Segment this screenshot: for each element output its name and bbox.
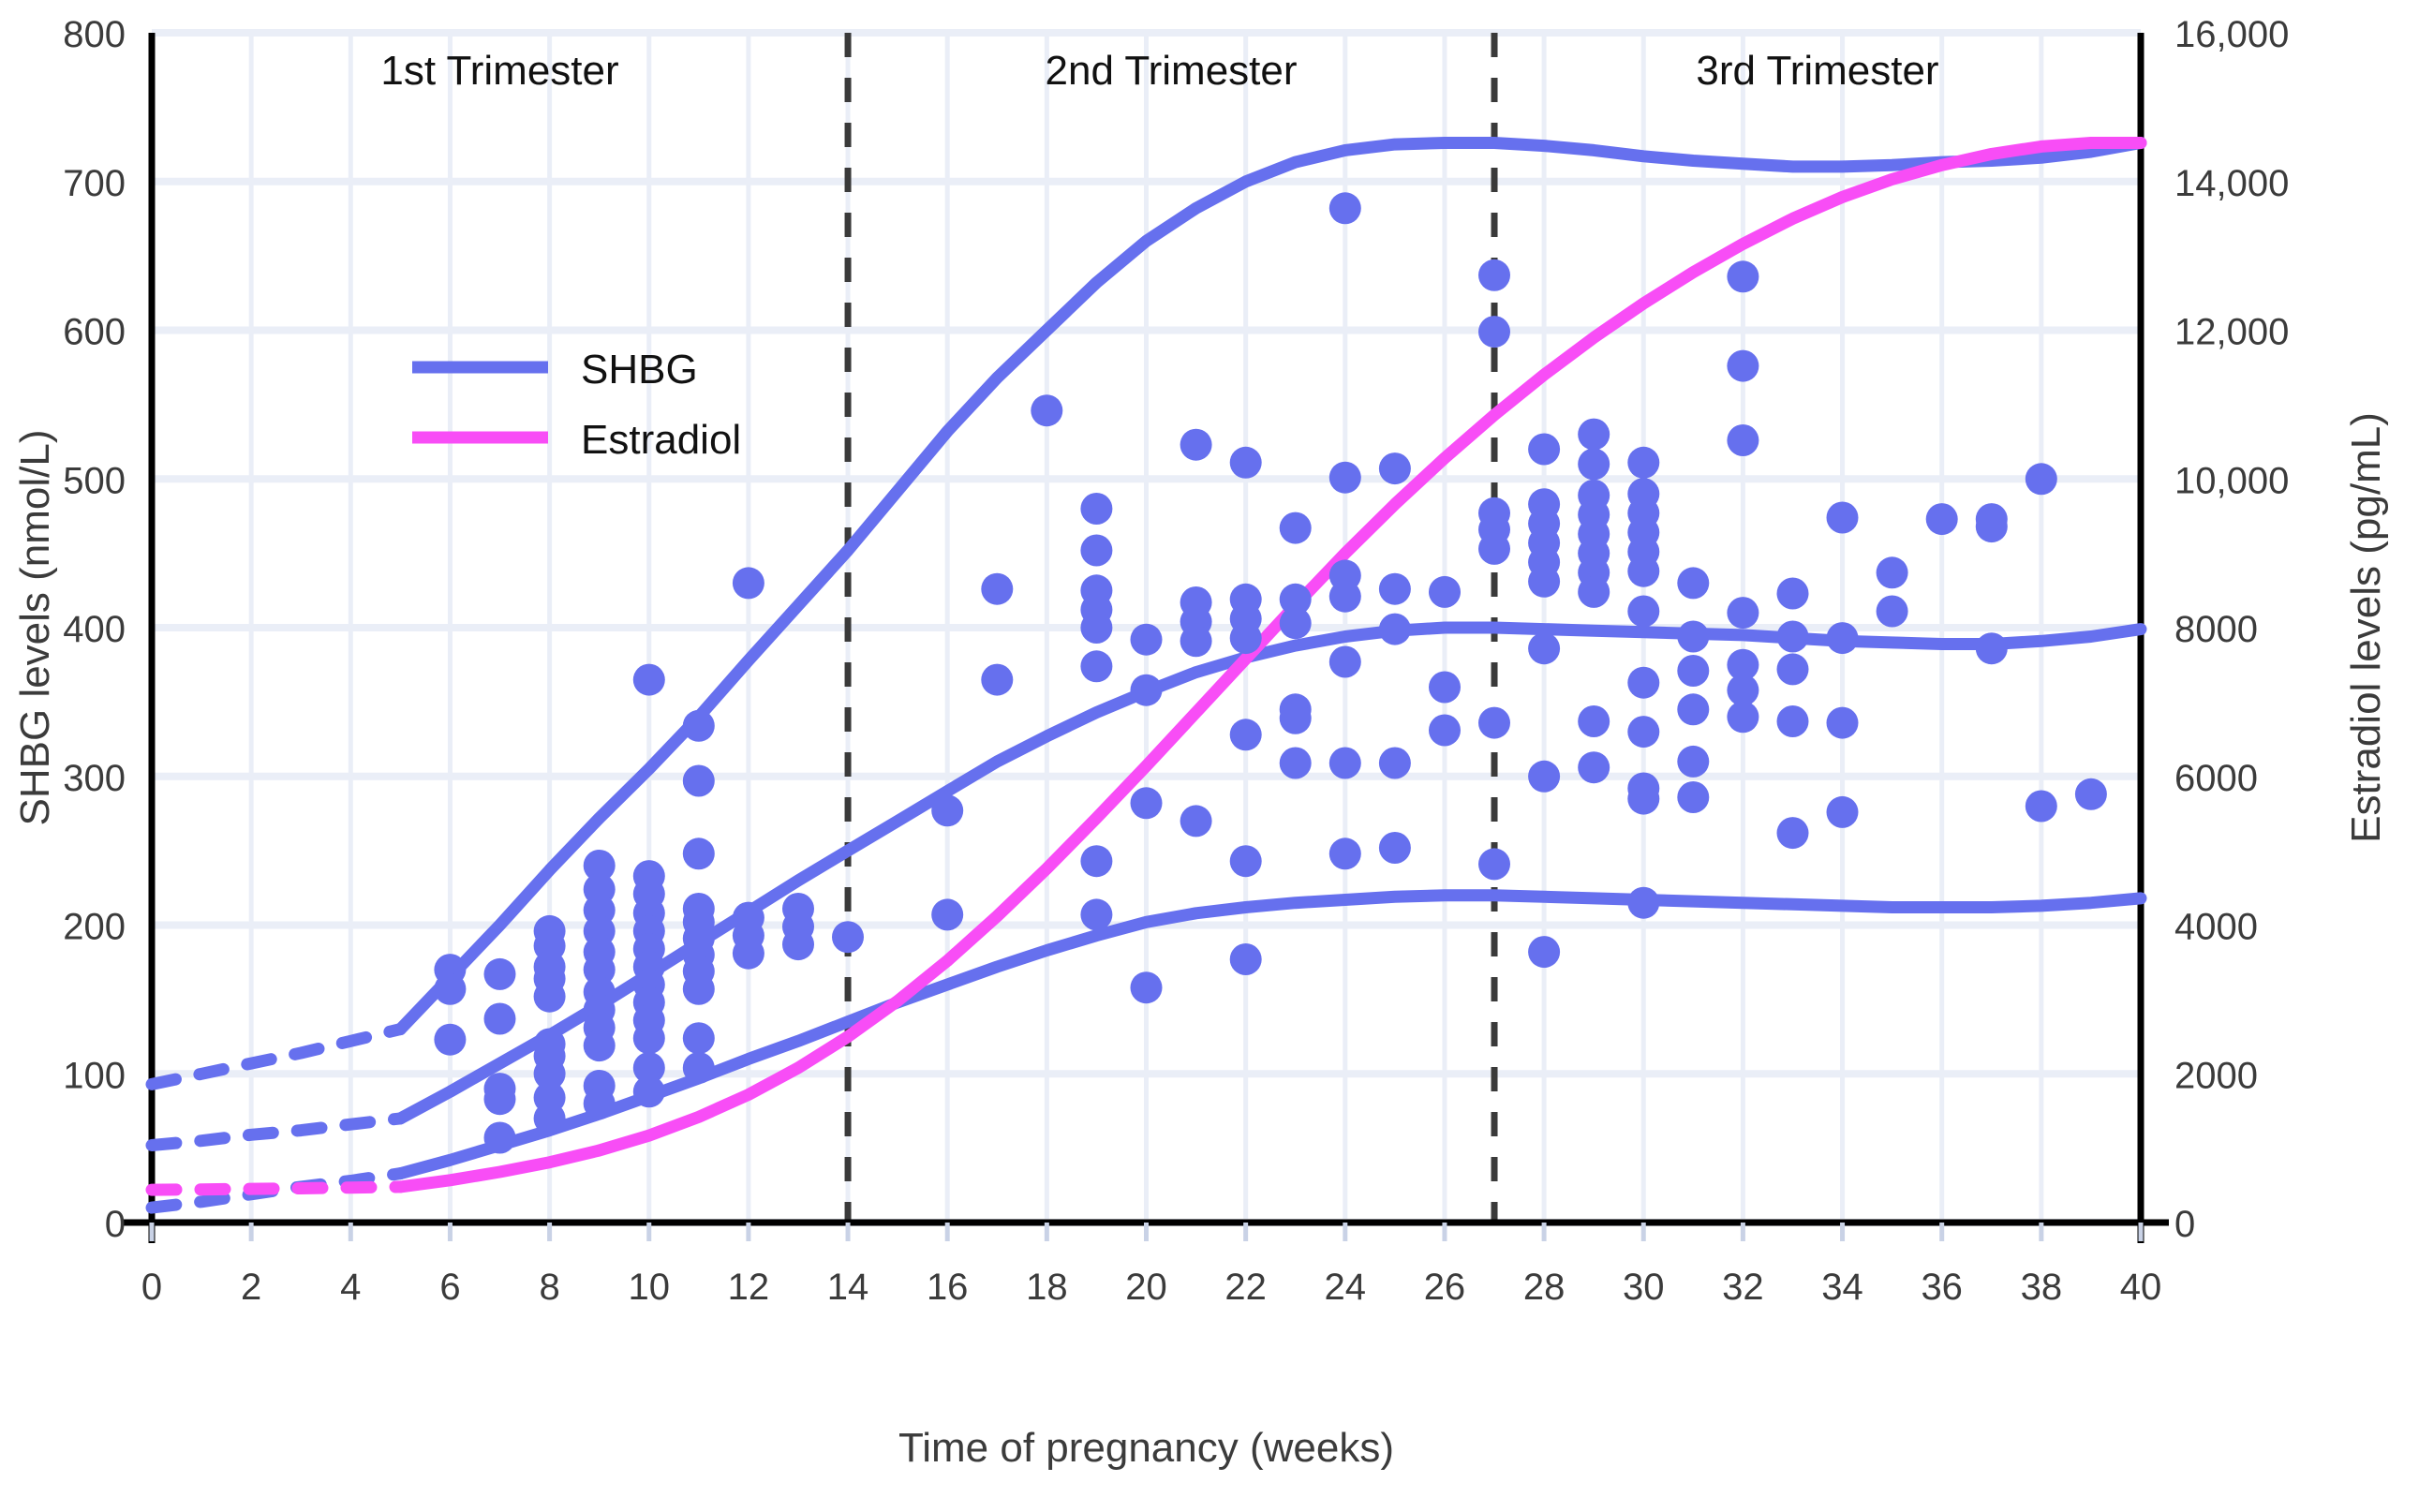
scatter-point bbox=[1877, 596, 1908, 628]
scatter-point bbox=[1777, 817, 1809, 849]
scatter-point bbox=[782, 928, 814, 960]
scatter-point bbox=[1379, 832, 1411, 864]
scatter-point bbox=[434, 1024, 466, 1056]
scatter-point bbox=[1578, 705, 1610, 737]
scatter-point bbox=[1329, 462, 1361, 494]
scatter-point bbox=[1131, 674, 1163, 706]
x-tick-label: 22 bbox=[1224, 1267, 1267, 1308]
scatter-point bbox=[1627, 887, 1659, 919]
x-tick-label: 28 bbox=[1523, 1267, 1566, 1308]
x-tick-label: 24 bbox=[1325, 1267, 1367, 1308]
x-tick-label: 8 bbox=[539, 1267, 559, 1308]
scatter-point bbox=[1180, 625, 1212, 657]
x-tick-label: 30 bbox=[1623, 1267, 1665, 1308]
scatter-point bbox=[1777, 653, 1809, 685]
y2-tick-label: 14,000 bbox=[2174, 163, 2289, 204]
y-tick-label: 800 bbox=[63, 14, 126, 55]
x-tick-label: 36 bbox=[1921, 1267, 1963, 1308]
scatter-point bbox=[1080, 898, 1112, 930]
y-tick-label: 600 bbox=[63, 312, 126, 353]
scatter-point bbox=[1230, 622, 1262, 654]
trimester-label: 2nd Trimester bbox=[1046, 48, 1298, 94]
scatter-point bbox=[1329, 646, 1361, 678]
scatter-point bbox=[1478, 707, 1510, 739]
x-tick-label: 6 bbox=[439, 1267, 460, 1308]
scatter-point bbox=[1131, 624, 1163, 656]
x-tick-label: 0 bbox=[141, 1267, 162, 1308]
legend-label[interactable]: Estradiol bbox=[581, 417, 741, 463]
scatter-chart: 0100200300400500600700800020004000600080… bbox=[0, 0, 2419, 1512]
scatter-point bbox=[1031, 394, 1062, 426]
y2-tick-label: 16,000 bbox=[2174, 14, 2289, 55]
scatter-point bbox=[1528, 566, 1560, 598]
scatter-point bbox=[2075, 778, 2107, 810]
trimester-label: 1st Trimester bbox=[380, 48, 618, 94]
scatter-point bbox=[1677, 781, 1709, 813]
scatter-point bbox=[484, 1083, 516, 1115]
scatter-point bbox=[1677, 693, 1709, 725]
scatter-point bbox=[434, 973, 466, 1005]
scatter-point bbox=[1478, 848, 1510, 880]
scatter-point bbox=[1429, 715, 1461, 747]
scatter-point bbox=[1379, 614, 1411, 645]
scatter-point bbox=[1478, 533, 1510, 565]
scatter-point bbox=[1230, 943, 1262, 975]
scatter-point bbox=[484, 958, 516, 990]
x-tick-label: 10 bbox=[629, 1267, 671, 1308]
scatter-point bbox=[981, 573, 1013, 605]
x-tick-label: 32 bbox=[1722, 1267, 1764, 1308]
scatter-point bbox=[1627, 667, 1659, 699]
scatter-point bbox=[1727, 350, 1759, 382]
scatter-point bbox=[733, 938, 764, 970]
scatter-point bbox=[1080, 535, 1112, 567]
scatter-point bbox=[1677, 655, 1709, 687]
scatter-point bbox=[633, 664, 665, 696]
scatter-point bbox=[1131, 787, 1163, 819]
x-tick-label: 20 bbox=[1125, 1267, 1167, 1308]
scatter-point bbox=[1627, 783, 1659, 815]
scatter-point bbox=[534, 981, 566, 1013]
x-tick-label: 16 bbox=[927, 1267, 969, 1308]
x-tick-label: 14 bbox=[827, 1267, 869, 1308]
y-tick-label: 100 bbox=[63, 1055, 126, 1096]
y2-tick-label: 12,000 bbox=[2174, 312, 2289, 353]
scatter-point bbox=[683, 765, 715, 797]
scatter-point bbox=[1131, 971, 1163, 1003]
scatter-point bbox=[1777, 578, 1809, 610]
scatter-point bbox=[1230, 719, 1262, 750]
scatter-point bbox=[1528, 936, 1560, 968]
scatter-point bbox=[1578, 576, 1610, 608]
scatter-point bbox=[1827, 707, 1859, 739]
tick-marks bbox=[152, 1223, 2141, 1241]
scatter-point bbox=[1976, 632, 2008, 664]
x-tick-label: 26 bbox=[1424, 1267, 1466, 1308]
y2-tick-label: 6000 bbox=[2174, 758, 2258, 799]
scatter-point bbox=[1429, 576, 1461, 608]
y2-tick-label: 2000 bbox=[2174, 1055, 2258, 1096]
scatter-point bbox=[1478, 259, 1510, 291]
scatter-point bbox=[1230, 447, 1262, 479]
scatter-point bbox=[683, 710, 715, 742]
scatter-point bbox=[1827, 622, 1859, 654]
y-axis-title: SHBG levels (nmol/L) bbox=[12, 429, 58, 825]
scatter-point bbox=[1627, 556, 1659, 587]
scatter-point bbox=[1180, 805, 1212, 837]
x-tick-label: 18 bbox=[1026, 1267, 1068, 1308]
scatter-point bbox=[1080, 650, 1112, 682]
scatter-point bbox=[931, 794, 963, 826]
scatter-point bbox=[633, 1075, 665, 1107]
y-tick-label: 300 bbox=[63, 758, 126, 799]
series-line bbox=[152, 1119, 400, 1146]
scatter-point bbox=[931, 898, 963, 930]
series-line bbox=[152, 1187, 400, 1190]
axis-titles: Time of pregnancy (weeks)SHBG levels (nm… bbox=[12, 412, 2389, 1471]
chart-legend[interactable]: SHBGEstradiol bbox=[412, 347, 741, 463]
y2-tick-label: 8000 bbox=[2174, 609, 2258, 650]
scatter-point bbox=[683, 973, 715, 1005]
scatter-point bbox=[584, 1088, 616, 1119]
scatter-point bbox=[1329, 192, 1361, 224]
scatter-point bbox=[683, 1052, 715, 1084]
scatter-point bbox=[633, 1022, 665, 1054]
y-tick-label: 700 bbox=[63, 163, 126, 204]
scatter-point bbox=[1379, 573, 1411, 605]
scatter-point bbox=[1230, 845, 1262, 877]
y2-axis-title: Estradiol levels (pg/mL) bbox=[2343, 412, 2389, 843]
scatter-point bbox=[733, 567, 764, 599]
y-tick-label: 200 bbox=[63, 907, 126, 948]
y-tick-label: 400 bbox=[63, 609, 126, 650]
scatter-point bbox=[1727, 424, 1759, 456]
y-tick-label: 0 bbox=[105, 1204, 126, 1245]
scatter-point bbox=[584, 1030, 616, 1061]
scatter-point bbox=[1528, 761, 1560, 793]
scatter-points bbox=[434, 192, 2106, 1153]
x-tick-label: 38 bbox=[2021, 1267, 2063, 1308]
scatter-point bbox=[1280, 607, 1312, 639]
x-tick-label: 2 bbox=[241, 1267, 261, 1308]
x-tick-label: 34 bbox=[1821, 1267, 1863, 1308]
scatter-point bbox=[1677, 567, 1709, 599]
scatter-point bbox=[1827, 502, 1859, 534]
scatter-point bbox=[1777, 621, 1809, 653]
x-tick-label: 12 bbox=[728, 1267, 770, 1308]
scatter-point bbox=[1727, 701, 1759, 733]
scatter-point bbox=[1627, 716, 1659, 748]
scatter-point bbox=[1329, 838, 1361, 869]
scatter-point bbox=[1578, 448, 1610, 480]
chart-figure: 0100200300400500600700800020004000600080… bbox=[0, 0, 2419, 1512]
y2-tick-label: 0 bbox=[2174, 1204, 2195, 1245]
scatter-point bbox=[832, 921, 864, 953]
x-axis-title: Time of pregnancy (weeks) bbox=[898, 1425, 1394, 1471]
scatter-point bbox=[1280, 748, 1312, 779]
scatter-point bbox=[1329, 581, 1361, 613]
scatter-point bbox=[1627, 596, 1659, 628]
scatter-point bbox=[1080, 493, 1112, 525]
scatter-point bbox=[1379, 452, 1411, 484]
y-tick-label: 500 bbox=[63, 460, 126, 501]
scatter-point bbox=[1080, 845, 1112, 877]
scatter-point bbox=[484, 1122, 516, 1154]
scatter-point bbox=[1478, 316, 1510, 348]
scatter-point bbox=[1429, 672, 1461, 704]
scatter-point bbox=[1528, 434, 1560, 466]
scatter-point bbox=[683, 1022, 715, 1054]
x-tick-label: 40 bbox=[2120, 1267, 2162, 1308]
scatter-point bbox=[1578, 751, 1610, 783]
scatter-point bbox=[1827, 796, 1859, 828]
trimester-annotations: 1st Trimester2nd Trimester3rd Trimester bbox=[380, 48, 1938, 94]
scatter-point bbox=[1280, 512, 1312, 544]
scatter-point bbox=[1180, 429, 1212, 461]
scatter-point bbox=[1727, 597, 1759, 629]
scatter-point bbox=[1280, 703, 1312, 734]
scatter-point bbox=[1080, 612, 1112, 644]
scatter-point bbox=[1777, 705, 1809, 737]
scatter-point bbox=[2026, 791, 2057, 823]
scatter-point bbox=[1578, 419, 1610, 451]
x-tick-label: 4 bbox=[340, 1267, 361, 1308]
scatter-point bbox=[1677, 746, 1709, 778]
y2-tick-label: 4000 bbox=[2174, 907, 2258, 948]
scatter-point bbox=[1379, 748, 1411, 779]
scatter-point bbox=[2026, 463, 2057, 495]
scatter-point bbox=[534, 1103, 566, 1134]
scatter-point bbox=[683, 838, 715, 869]
scatter-point bbox=[981, 664, 1013, 696]
legend-label[interactable]: SHBG bbox=[581, 347, 698, 393]
y2-tick-label: 10,000 bbox=[2174, 460, 2289, 501]
scatter-point bbox=[1627, 447, 1659, 479]
scatter-point bbox=[1926, 503, 1958, 535]
scatter-point bbox=[1329, 748, 1361, 779]
scatter-point bbox=[1976, 511, 2008, 542]
scatter-point bbox=[1677, 621, 1709, 653]
scatter-point bbox=[1727, 260, 1759, 292]
scatter-point bbox=[484, 1003, 516, 1035]
scatter-point bbox=[1877, 556, 1908, 588]
scatter-point bbox=[1528, 632, 1560, 664]
trimester-label: 3rd Trimester bbox=[1696, 48, 1938, 94]
